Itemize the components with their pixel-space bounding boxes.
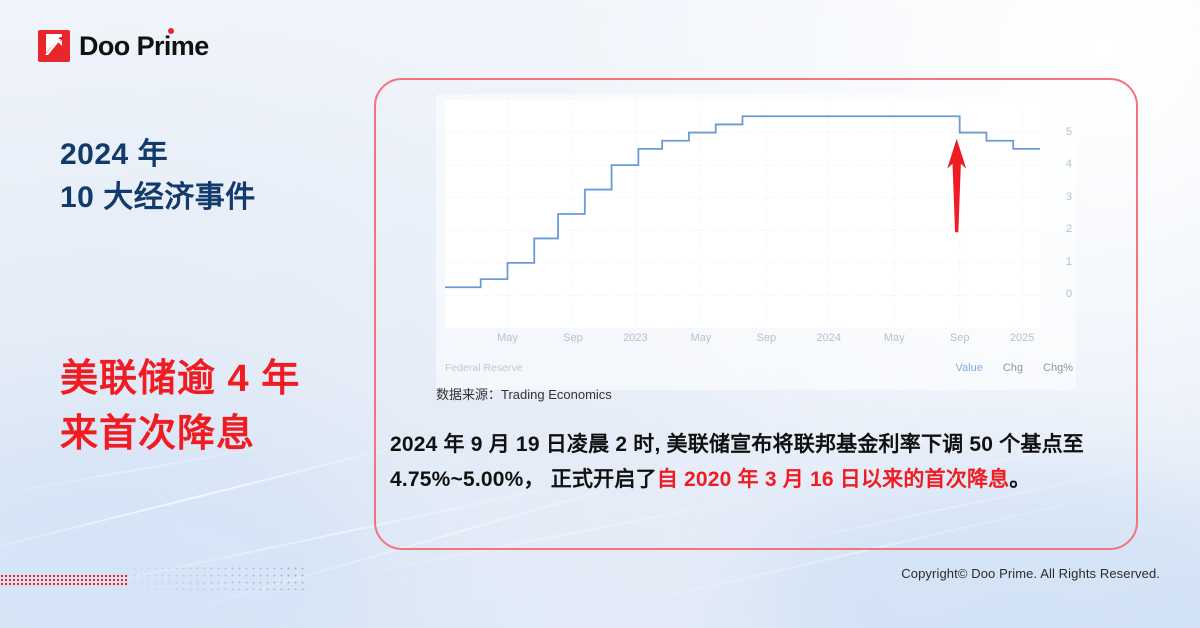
decorative-red-dots [0, 574, 128, 587]
chart-plot-area [445, 100, 1040, 328]
x-tick-label: Sep [950, 332, 970, 344]
chart-y-axis: 012345 [1046, 94, 1076, 334]
y-tick-label: 3 [1066, 192, 1072, 203]
chart-value-tabs[interactable]: ValueChgChg% [956, 362, 1073, 374]
chart-tab-chg[interactable]: Chg [1003, 362, 1023, 374]
x-tick-label: 2025 [1010, 332, 1034, 344]
decorative-grey-dots [110, 565, 305, 590]
x-tick-label: 2024 [817, 332, 841, 344]
x-tick-label: 2023 [623, 332, 647, 344]
chart-svg [445, 100, 1040, 328]
brand-logo-text: Doo Prime [79, 33, 209, 60]
description-highlight: 自 2020 年 3 月 16 日以来的首次降息 [657, 468, 1010, 491]
chart-x-axis: MaySep2023MaySep2024MaySep2025 [445, 332, 1077, 350]
chart-tab-chgpct[interactable]: Chg% [1043, 362, 1073, 374]
series-title: 2024 年 10 大经济事件 [60, 134, 256, 219]
y-tick-label: 5 [1066, 127, 1072, 138]
event-description: 2024 年 9 月 19 日凌晨 2 时, 美联储宣布将联邦基金利率下调 50… [390, 428, 1120, 497]
x-tick-label: May [690, 332, 711, 344]
data-source-label: 数据来源：Trading Economics [436, 384, 612, 403]
x-tick-label: May [497, 332, 518, 344]
brand-logo-dot-icon [168, 28, 174, 34]
chart-footer: Federal Reserve ValueChgChg% [445, 362, 1073, 374]
copyright-notice: Copyright© Doo Prime. All Rights Reserve… [901, 566, 1160, 581]
y-tick-label: 0 [1066, 289, 1072, 300]
x-tick-label: May [884, 332, 905, 344]
description-part-2: 。 [1009, 468, 1030, 491]
rate-cut-arrow [947, 139, 966, 232]
y-tick-label: 2 [1066, 224, 1072, 235]
brand-logo: Doo Prime [38, 30, 209, 62]
y-tick-label: 1 [1066, 257, 1072, 268]
x-tick-label: Sep [757, 332, 777, 344]
y-tick-label: 4 [1066, 159, 1072, 170]
chart-source-label: Federal Reserve [445, 362, 523, 374]
doo-prime-bolt-icon [38, 30, 70, 62]
poster-canvas: Doo Prime 2024 年 10 大经济事件 美联储逾 4 年 来首次降息… [0, 0, 1200, 628]
x-tick-label: Sep [563, 332, 583, 344]
event-title: 美联储逾 4 年 来首次降息 [60, 352, 300, 462]
chart-panel: 012345 MaySep2023MaySep2024MaySep2025 Fe… [436, 94, 1076, 390]
chart-container: 012345 MaySep2023MaySep2024MaySep2025 Fe… [436, 94, 1076, 390]
chart-tab-value[interactable]: Value [956, 362, 983, 374]
content-card: 012345 MaySep2023MaySep2024MaySep2025 Fe… [374, 78, 1138, 550]
